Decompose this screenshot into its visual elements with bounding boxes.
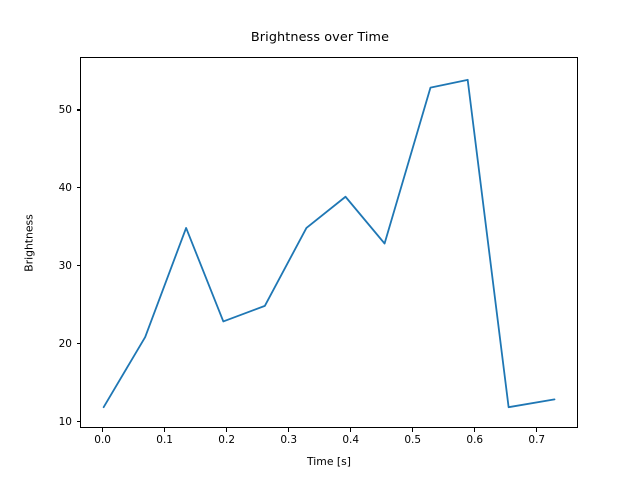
x-tick-label: 0.0 xyxy=(94,434,111,446)
x-tick-label: 0.5 xyxy=(404,434,421,446)
y-tick-mark xyxy=(77,421,81,422)
figure-canvas: Brightness over Time 0.00.10.20.30.40.50… xyxy=(0,0,640,480)
plot-area xyxy=(80,57,578,428)
x-tick-mark xyxy=(536,428,537,432)
x-tick-mark xyxy=(102,428,103,432)
y-tick-mark xyxy=(77,109,81,110)
line-series-brightness xyxy=(81,58,579,429)
y-tick-label: 30 xyxy=(40,260,72,272)
y-axis-label: Brightness xyxy=(23,214,36,272)
page-title: Brightness over Time xyxy=(0,30,640,45)
y-tick-label: 10 xyxy=(40,416,72,428)
x-tick-label: 0.6 xyxy=(466,434,483,446)
x-tick-label: 0.2 xyxy=(218,434,235,446)
x-tick-mark xyxy=(226,428,227,432)
y-tick-label: 40 xyxy=(40,182,72,194)
y-tick-mark xyxy=(77,343,81,344)
x-tick-label: 0.1 xyxy=(156,434,173,446)
x-tick-mark xyxy=(164,428,165,432)
x-tick-label: 0.3 xyxy=(280,434,297,446)
series-polyline xyxy=(104,80,555,407)
y-tick-mark xyxy=(77,265,81,266)
x-axis-label: Time [s] xyxy=(80,455,578,468)
x-tick-mark xyxy=(412,428,413,432)
y-tick-mark xyxy=(77,187,81,188)
y-tick-label: 20 xyxy=(40,338,72,350)
x-tick-mark xyxy=(350,428,351,432)
x-tick-label: 0.4 xyxy=(342,434,359,446)
x-tick-label: 0.7 xyxy=(528,434,545,446)
x-tick-mark xyxy=(288,428,289,432)
x-tick-mark xyxy=(474,428,475,432)
y-tick-label: 50 xyxy=(40,104,72,116)
y-axis-label-container: Brightness xyxy=(21,57,37,428)
